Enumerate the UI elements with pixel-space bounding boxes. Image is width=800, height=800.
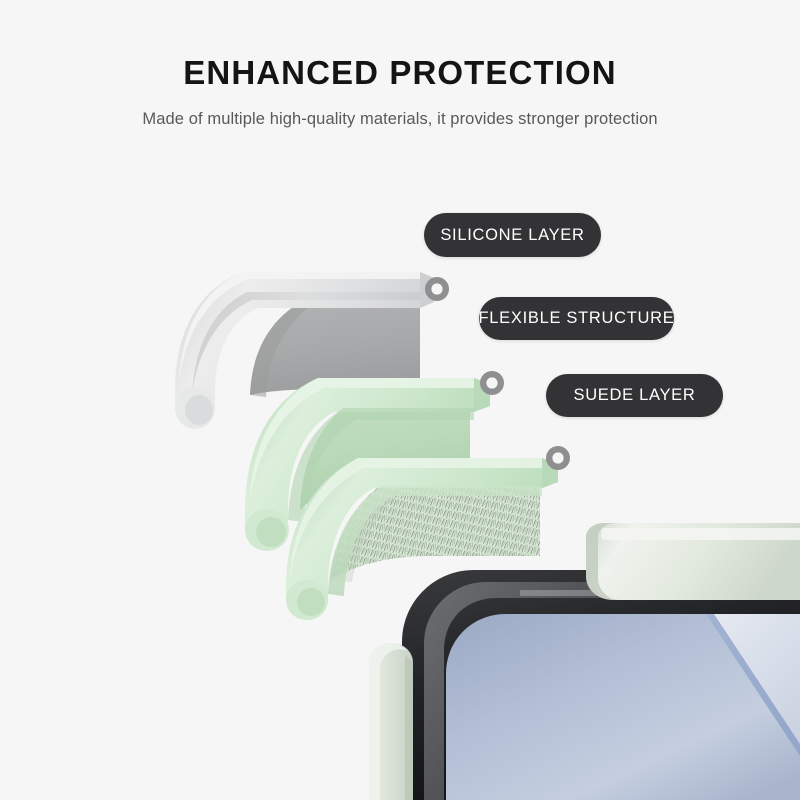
callout-suede-layer[interactable]: SUEDE LAYER <box>546 374 723 417</box>
ring-marker-silicone <box>425 277 449 301</box>
callout-silicone-layer-label: SILICONE LAYER <box>440 226 584 245</box>
ring-marker-flexible-structure <box>480 371 504 395</box>
phone-bumper-left-shadow <box>405 655 413 800</box>
infographic-canvas: ENHANCED PROTECTION Made of multiple hig… <box>0 0 800 800</box>
callout-silicone-layer[interactable]: SILICONE LAYER <box>424 213 601 257</box>
page-subtitle: Made of multiple high-quality materials,… <box>0 111 800 128</box>
ring-marker-suede <box>546 446 570 470</box>
flexible-structure-end-cap-shade <box>256 517 286 547</box>
smartphone-corner <box>369 523 800 800</box>
callout-flexible-structure-label: FLEXIBLE STRUCTURE <box>479 309 675 328</box>
suede-layer-end-cap-shade <box>297 588 325 616</box>
callout-flexible-structure[interactable]: FLEXIBLE STRUCTURE <box>479 297 674 340</box>
silicone-layer-end-cap-shade <box>185 395 213 425</box>
page-title: ENHANCED PROTECTION <box>0 56 800 89</box>
callout-suede-layer-label: SUEDE LAYER <box>573 386 695 405</box>
phone-bumper-top-highlight <box>601 528 800 540</box>
